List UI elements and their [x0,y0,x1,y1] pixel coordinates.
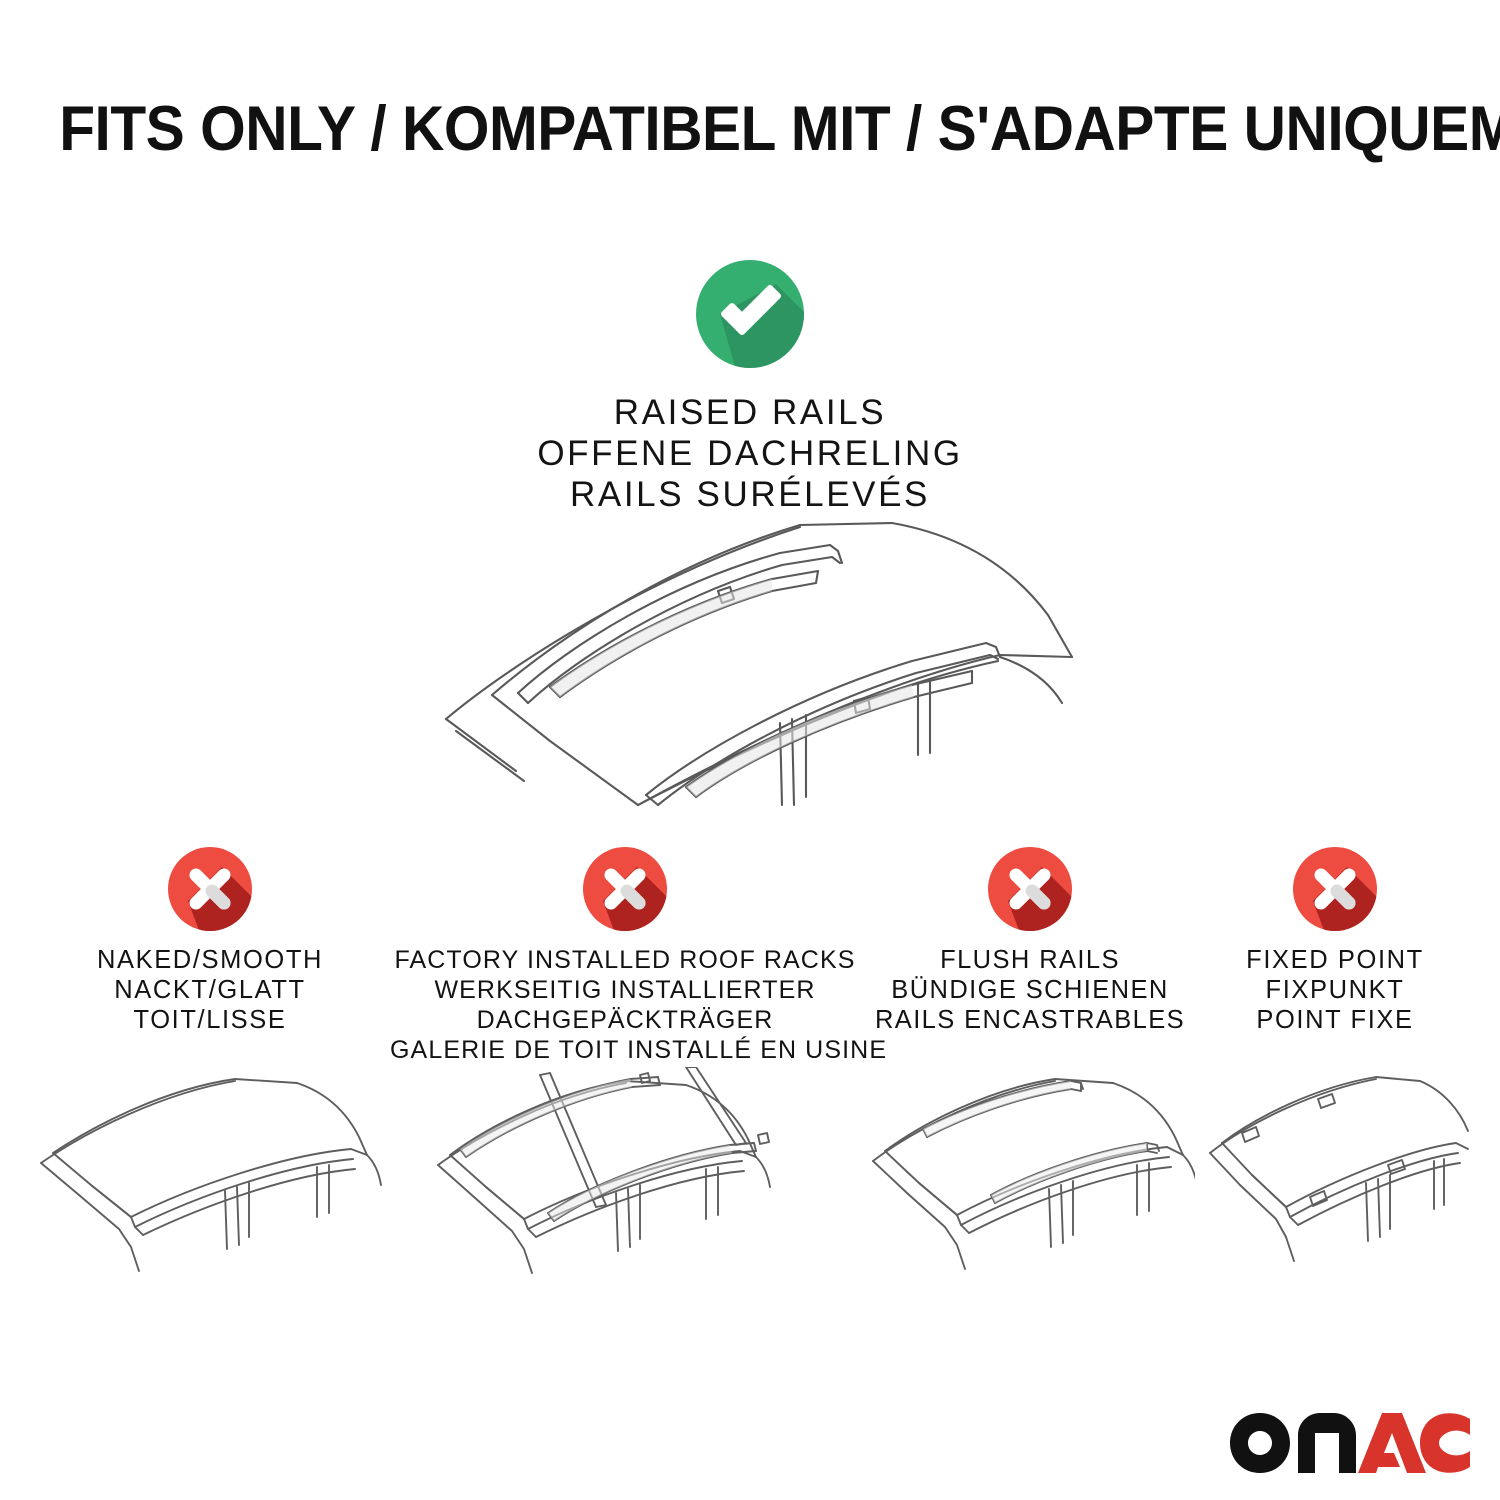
label-line-de-2: DACHGEPÄCKTRÄGER [390,1005,860,1035]
label-line-fr: RAILS ENCASTRABLES [865,1005,1195,1035]
compatible-section: RAISED RAILS OFFENE DACHRELING RAILS SUR… [0,258,1500,515]
x-circle-icon [986,845,1074,933]
brand-logo [1230,1413,1470,1475]
label-line-en: NAKED/SMOOTH [35,945,385,975]
page-title: FITS ONLY / KOMPATIBEL MIT / S'ADAPTE UN… [59,96,1500,162]
incompatible-labels: FACTORY INSTALLED ROOF RACKS WERKSEITIG … [390,945,860,1065]
x-circle-icon [166,845,254,933]
incompatible-labels: FIXED POINT FIXPUNKT POINT FIXE [1200,945,1470,1035]
car-roof-flush-rails-illustration [865,1067,1195,1317]
label-line-de: BÜNDIGE SCHIENEN [865,975,1195,1005]
compatible-labels: RAISED RAILS OFFENE DACHRELING RAILS SUR… [0,392,1500,515]
page-title-bar: FITS ONLY / KOMPATIBEL MIT / S'ADAPTE UN… [0,96,1500,162]
car-roof-naked-illustration [35,1067,385,1317]
label-line-fr: TOIT/LISSE [35,1005,385,1035]
incompatible-section: NAKED/SMOOTH NACKT/GLATT TOIT/LISSE [0,845,1500,1365]
incompatible-item-fixed-point: FIXED POINT FIXPUNKT POINT FIXE [1200,845,1470,1035]
label-line-fr: GALERIE DE TOIT INSTALLÉ EN USINE [390,1035,860,1065]
label-line-en: FIXED POINT [1200,945,1470,975]
incompatible-labels: NAKED/SMOOTH NACKT/GLATT TOIT/LISSE [35,945,385,1035]
label-line-de: FIXPUNKT [1200,975,1470,1005]
incompatible-item-factory-roof-racks: FACTORY INSTALLED ROOF RACKS WERKSEITIG … [390,845,860,1065]
compatible-label-en: RAISED RAILS [0,392,1500,433]
car-roof-factory-racks-illustration [390,1067,860,1317]
incompatible-item-flush-rails: FLUSH RAILS BÜNDIGE SCHIENEN RAILS ENCAS… [865,845,1195,1035]
compatible-label-de: OFFENE DACHRELING [0,433,1500,474]
x-circle-icon [1291,845,1379,933]
label-line-de: NACKT/GLATT [35,975,385,1005]
x-circle-icon [581,845,669,933]
car-roof-fixed-point-illustration [1200,1067,1470,1317]
label-line-en: FACTORY INSTALLED ROOF RACKS [390,945,860,975]
incompatible-item-naked-smooth: NAKED/SMOOTH NACKT/GLATT TOIT/LISSE [35,845,385,1035]
car-roof-raised-rails-illustration [400,505,1100,825]
label-line-en: FLUSH RAILS [865,945,1195,975]
check-circle-icon [694,258,806,370]
incompatible-labels: FLUSH RAILS BÜNDIGE SCHIENEN RAILS ENCAS… [865,945,1195,1035]
label-line-fr: POINT FIXE [1200,1005,1470,1035]
label-line-de-1: WERKSEITIG INSTALLIERTER [390,975,860,1005]
